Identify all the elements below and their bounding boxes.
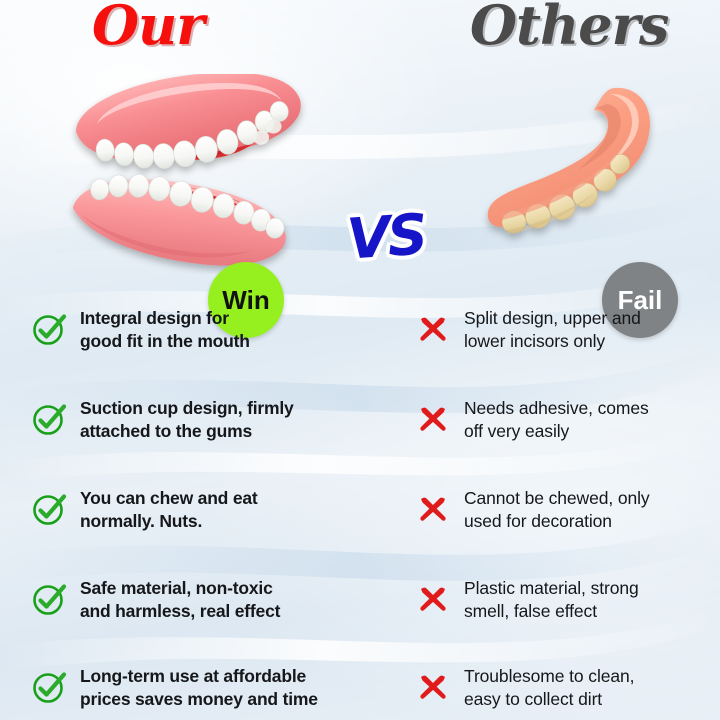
others-cell: Split design, upper and lower incisors o… (392, 287, 720, 373)
check-circle-icon (30, 400, 68, 438)
ours-feature-text: Long-term use at affordable prices saves… (80, 665, 318, 711)
comparison-row: Suction cup design, firmly attached to t… (0, 377, 720, 463)
check-circle-icon (30, 310, 68, 348)
red-cross-icon (414, 668, 452, 706)
page-title-others: Others (470, 0, 668, 56)
vs-label: VS (333, 197, 438, 280)
comparison-row: Safe material, non-toxic and harmless, r… (0, 557, 720, 643)
check-circle-icon (30, 668, 68, 706)
comparison-row: You can chew and eat normally. Nuts. Can… (0, 467, 720, 553)
ours-cell: Integral design for good fit in the mout… (0, 287, 392, 373)
comparison-row: Integral design for good fit in the mout… (0, 287, 720, 373)
others-cell: Needs adhesive, comes off very easily (392, 377, 720, 463)
others-feature-text: Needs adhesive, comes off very easily (464, 397, 649, 443)
others-cell: Troublesome to clean, easy to collect di… (392, 645, 720, 720)
page-title-ours: Our (92, 0, 204, 56)
comparison-infographic: Our Others (0, 0, 720, 720)
ours-cell: You can chew and eat normally. Nuts. (0, 467, 392, 553)
ours-cell: Suction cup design, firmly attached to t… (0, 377, 392, 463)
ours-feature-text: Integral design for good fit in the mout… (80, 307, 250, 353)
check-circle-icon (30, 490, 68, 528)
others-feature-text: Plastic material, strong smell, false ef… (464, 577, 639, 623)
others-cell: Cannot be chewed, only used for decorati… (392, 467, 720, 553)
product-image-partial-veneer (468, 74, 693, 264)
others-feature-text: Split design, upper and lower incisors o… (464, 307, 641, 353)
header: Our Others (0, 0, 720, 62)
ours-feature-text: Safe material, non-toxic and harmless, r… (80, 577, 280, 623)
red-cross-icon (414, 400, 452, 438)
ours-cell: Long-term use at affordable prices saves… (0, 645, 392, 720)
comparison-list: Integral design for good fit in the mout… (0, 287, 720, 720)
ours-feature-text: Suction cup design, firmly attached to t… (80, 397, 294, 443)
others-feature-text: Troublesome to clean, easy to collect di… (464, 665, 634, 711)
product-image-full-denture-set (48, 74, 328, 274)
others-cell: Plastic material, strong smell, false ef… (392, 557, 720, 643)
ours-cell: Safe material, non-toxic and harmless, r… (0, 557, 392, 643)
ours-feature-text: You can chew and eat normally. Nuts. (80, 487, 258, 533)
comparison-row: Long-term use at affordable prices saves… (0, 645, 720, 720)
others-feature-text: Cannot be chewed, only used for decorati… (464, 487, 650, 533)
red-cross-icon (414, 580, 452, 618)
red-cross-icon (414, 310, 452, 348)
hero-products: Win Fail VS (0, 62, 720, 287)
red-cross-icon (414, 490, 452, 528)
check-circle-icon (30, 580, 68, 618)
